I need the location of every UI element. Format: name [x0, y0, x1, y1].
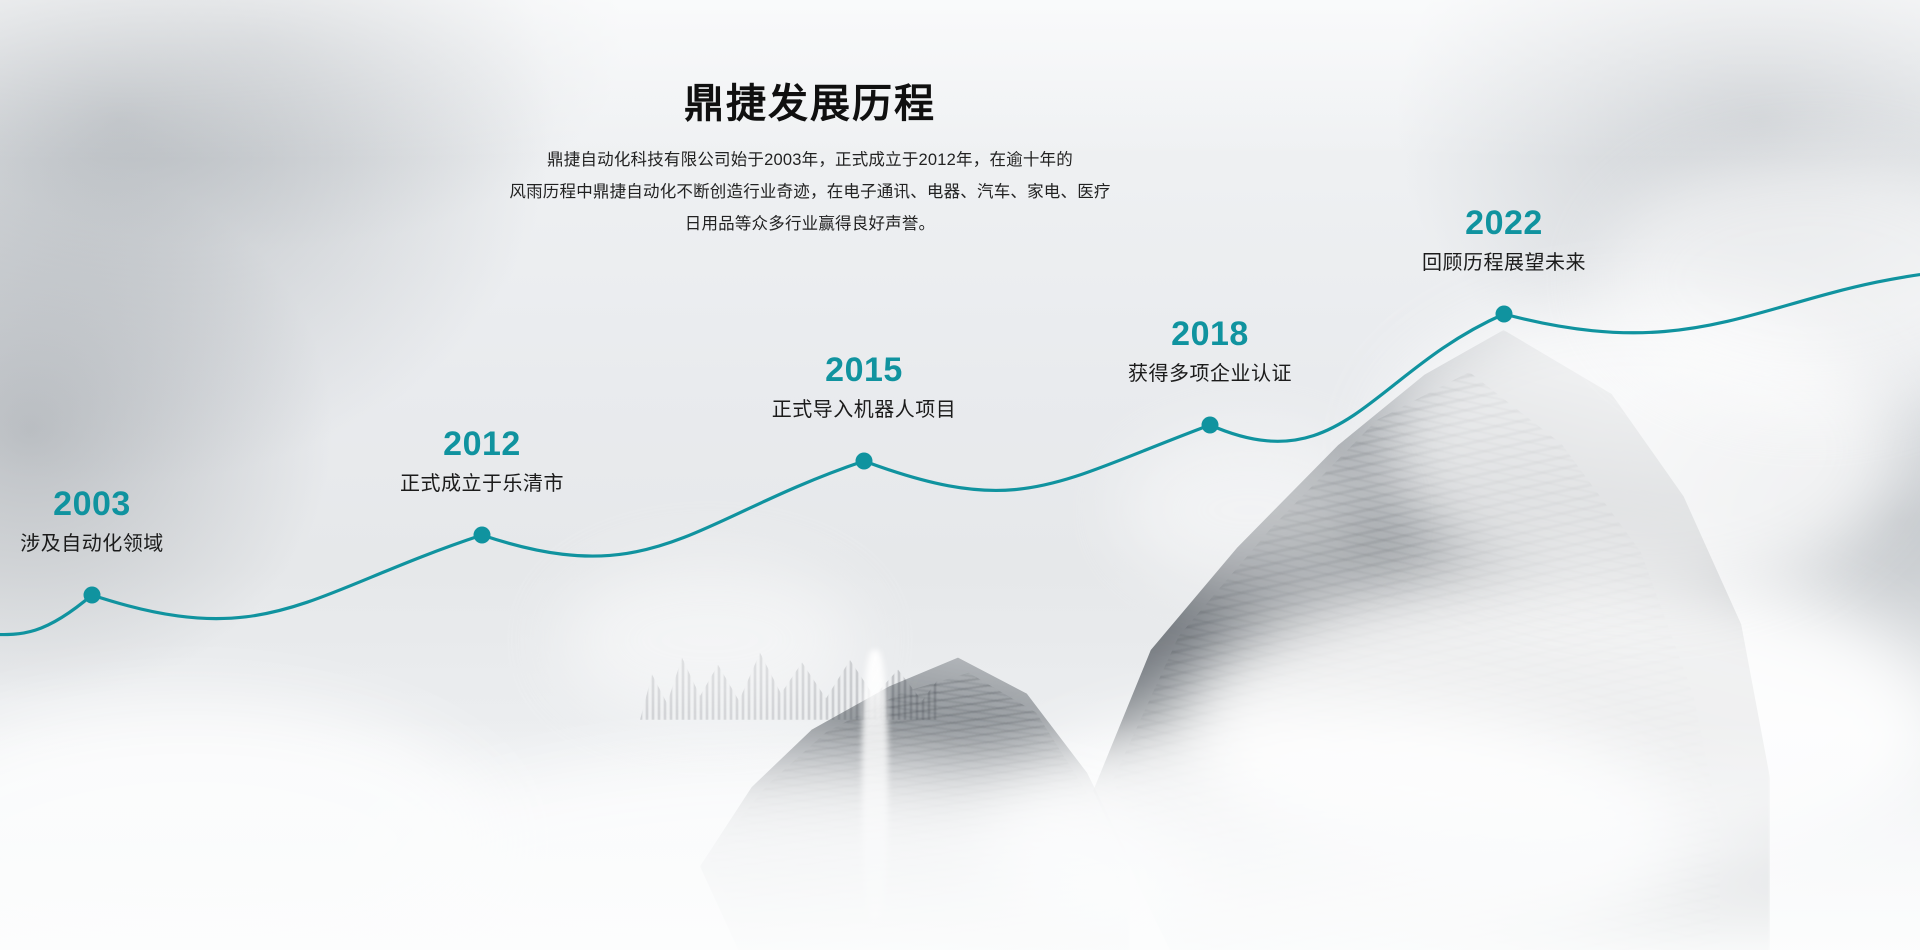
milestone-2022[interactable]: 2022回顾历程展望未来: [1422, 206, 1586, 275]
timeline-node-2015[interactable]: [856, 453, 873, 470]
timeline-node-2022[interactable]: [1496, 306, 1513, 323]
timeline-node-2018[interactable]: [1202, 417, 1219, 434]
timeline-node-2003[interactable]: [84, 587, 101, 604]
milestone-year: 2003: [20, 487, 164, 523]
milestone-label: 涉及自动化领域: [20, 527, 164, 556]
milestone-2015[interactable]: 2015正式导入机器人项目: [772, 353, 957, 422]
milestone-year: 2022: [1422, 206, 1586, 242]
milestone-2018[interactable]: 2018获得多项企业认证: [1128, 317, 1292, 386]
milestone-year: 2018: [1128, 317, 1292, 353]
milestone-year: 2015: [772, 353, 957, 389]
milestone-2003[interactable]: 2003涉及自动化领域: [20, 487, 164, 556]
timeline-dots: [84, 306, 1513, 604]
timeline-node-2012[interactable]: [474, 527, 491, 544]
timeline-curve: [0, 0, 1920, 950]
slide-canvas: 鼎捷发展历程 鼎捷自动化科技有限公司始于2003年，正式成立于2012年，在逾十…: [0, 0, 1920, 950]
milestone-label: 正式导入机器人项目: [772, 393, 957, 422]
milestone-2012[interactable]: 2012正式成立于乐清市: [400, 427, 564, 496]
milestone-year: 2012: [400, 427, 564, 463]
timeline: 2003涉及自动化领域2012正式成立于乐清市2015正式导入机器人项目2018…: [0, 0, 1920, 950]
milestone-label: 正式成立于乐清市: [400, 467, 564, 496]
milestone-label: 回顾历程展望未来: [1422, 246, 1586, 275]
milestone-label: 获得多项企业认证: [1128, 357, 1292, 386]
timeline-path: [0, 268, 1920, 637]
